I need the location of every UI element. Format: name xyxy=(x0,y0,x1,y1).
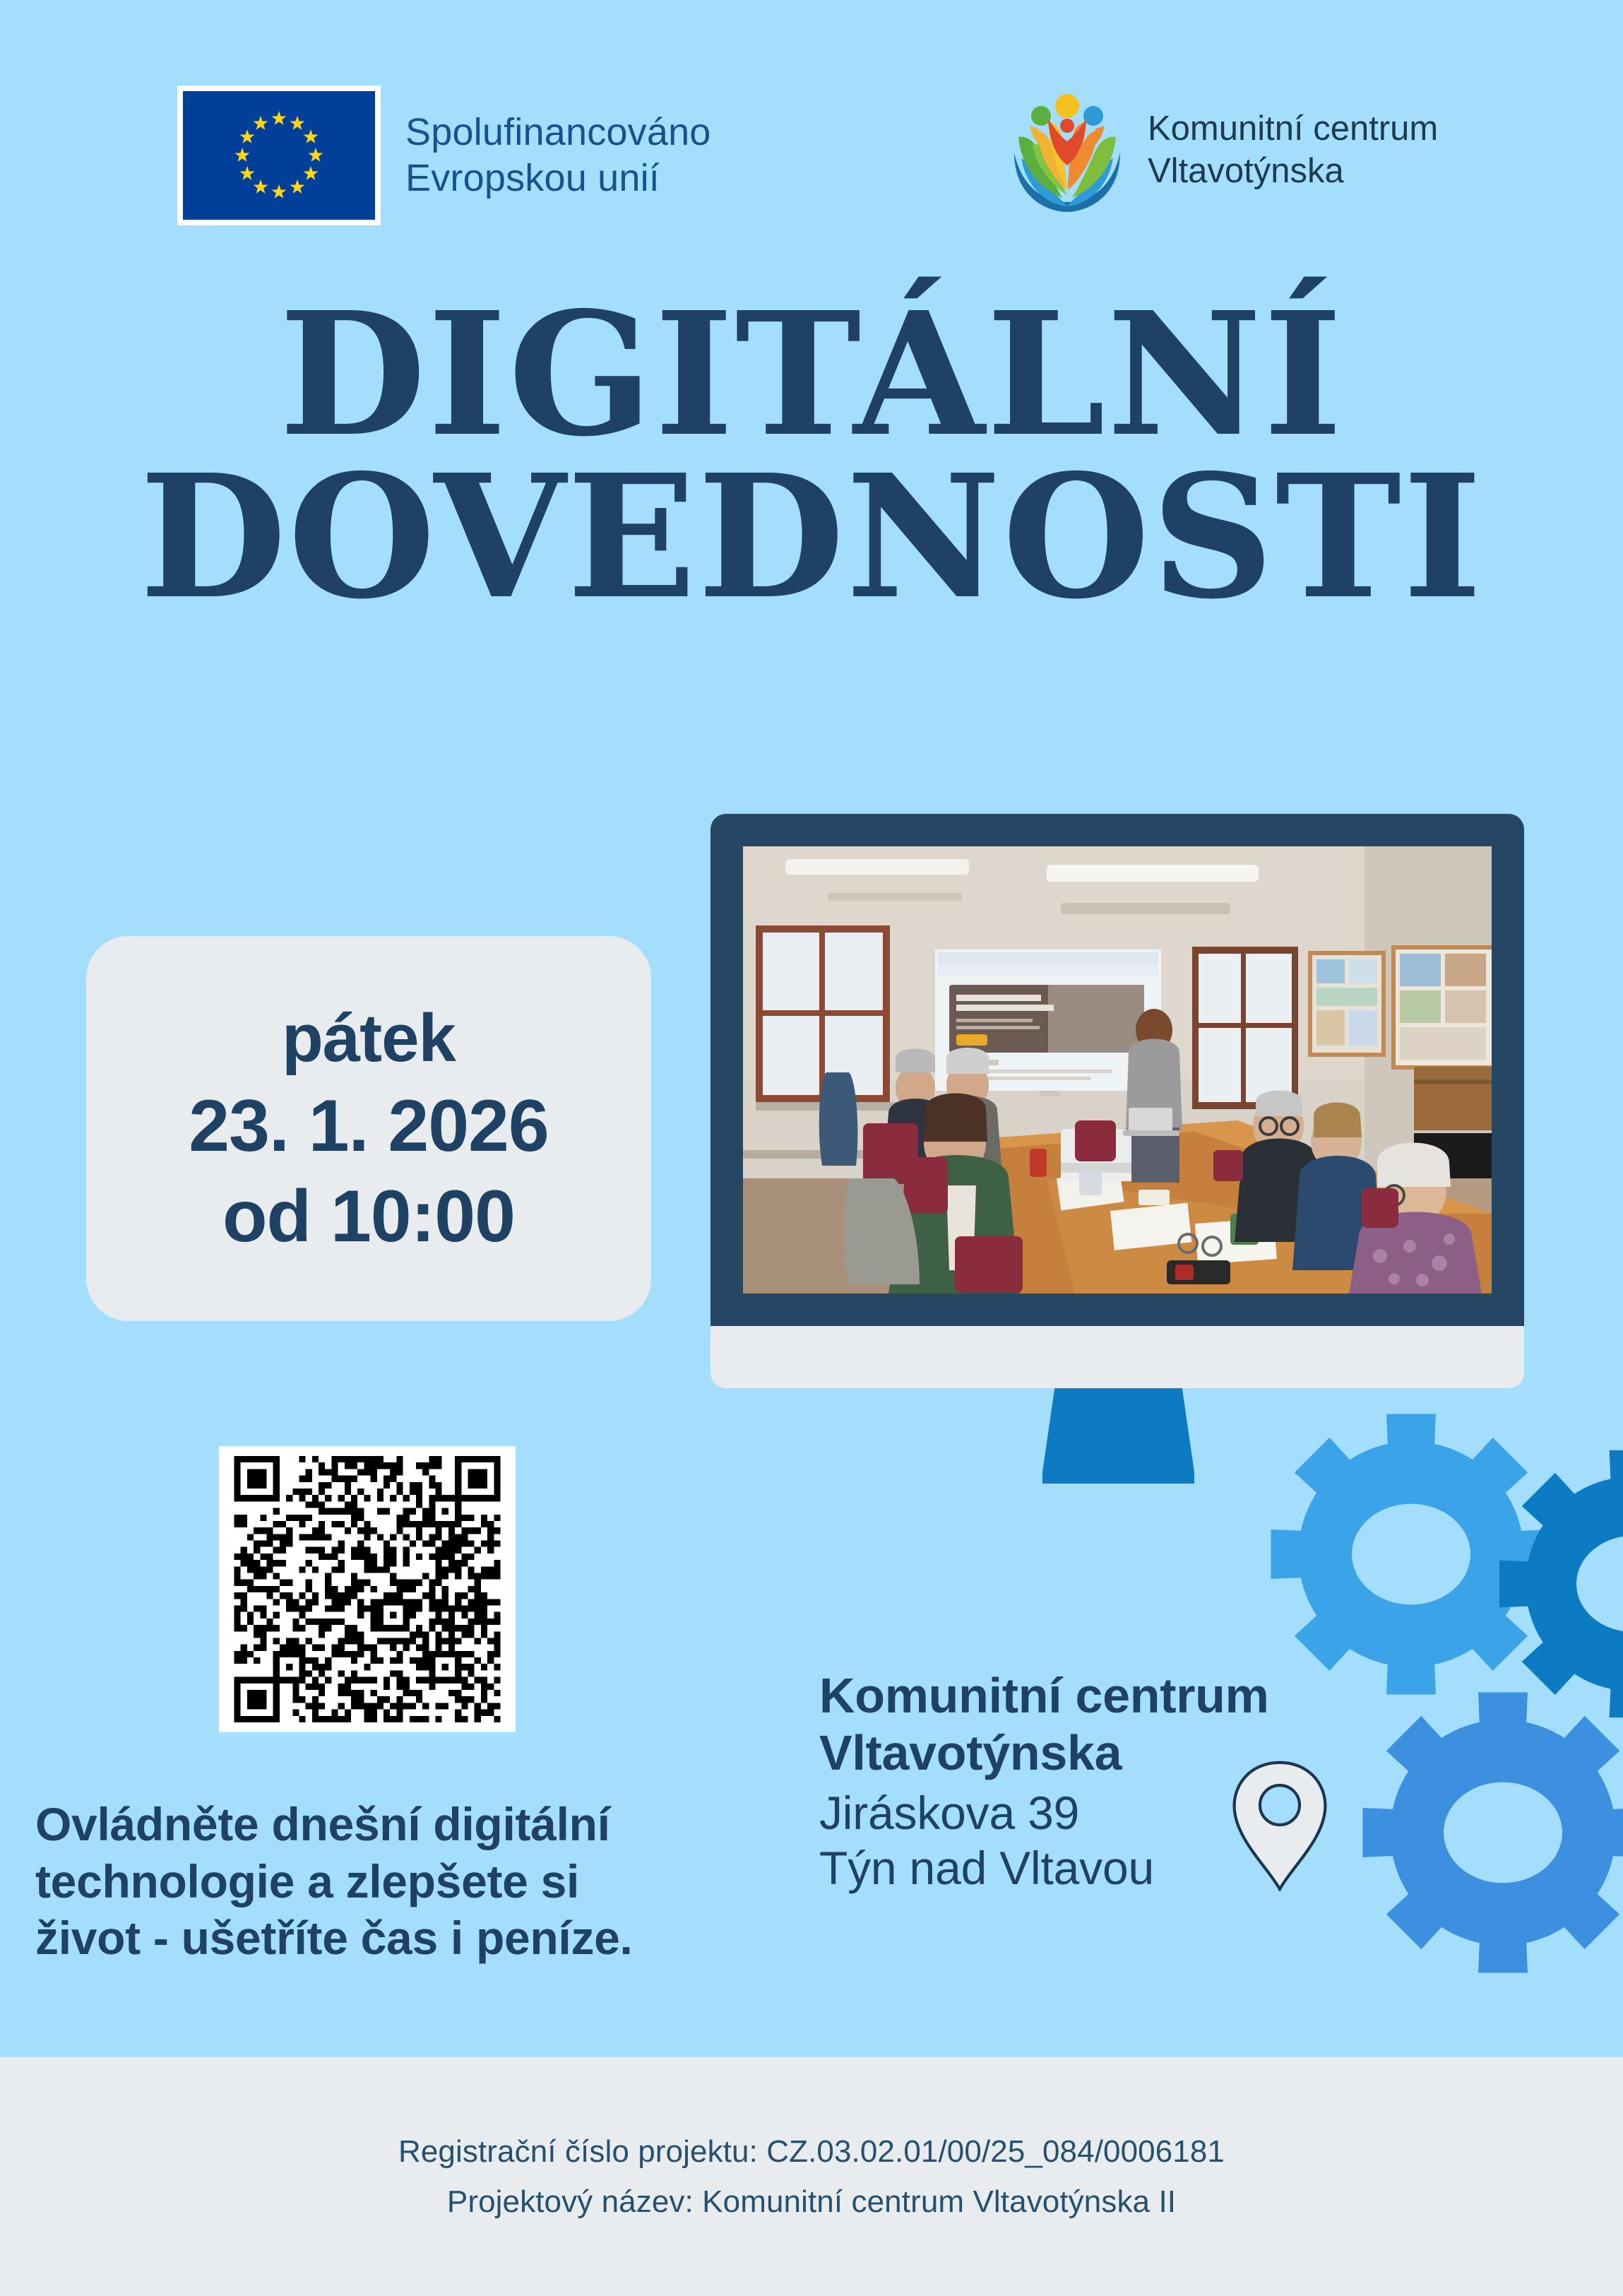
project-registration-number: Registrační číslo projektu: CZ.03.02.01/… xyxy=(398,2132,1225,2171)
monitor-chin xyxy=(711,1326,1524,1388)
monitor-bezel xyxy=(711,814,1524,1326)
logo-bar: Spolufinancováno Evropskou unií xyxy=(0,78,1623,240)
community-center-flower-icon xyxy=(1006,85,1129,215)
slogan-text: Ovládněte dnešní digitální technologie a… xyxy=(35,1796,777,1967)
eu-stars-icon xyxy=(183,91,375,220)
qr-code-matrix xyxy=(229,1456,506,1722)
map-pin-icon xyxy=(1230,1761,1329,1891)
qr-code[interactable] xyxy=(219,1446,516,1732)
page-title: DIGITÁLNÍ DOVEDNOSTI xyxy=(0,293,1623,619)
community-center-logo-block: Komunitní centrum Vltavotýnska xyxy=(1006,85,1438,215)
event-time: od 10:00 xyxy=(222,1180,515,1253)
eu-flag-frame xyxy=(178,86,380,225)
monitor-screen xyxy=(743,846,1492,1294)
gear-dark-right-icon xyxy=(1492,1443,1623,1725)
monitor-stand xyxy=(1042,1388,1194,1484)
monitor-illustration xyxy=(711,814,1524,1372)
event-date-card: pátek 23. 1. 2026 od 10:00 xyxy=(86,936,651,1321)
venue-street-city: Jiráskova 39 Týn nad Vltavou xyxy=(819,1786,1469,1896)
event-weekday: pátek xyxy=(282,1005,456,1072)
workshop-photo xyxy=(743,846,1492,1294)
title-line-1: DIGITÁLNÍ xyxy=(0,293,1623,456)
event-date: 23. 1. 2026 xyxy=(189,1089,548,1163)
eu-funding-logo: Spolufinancováno Evropskou unií xyxy=(178,86,711,225)
project-footer: Registrační číslo projektu: CZ.03.02.01/… xyxy=(0,2057,1623,2296)
project-name: Projektový název: Komunitní centrum Vlta… xyxy=(447,2182,1176,2221)
title-line-2: DOVEDNOSTI xyxy=(0,456,1623,618)
eu-funding-label: Spolufinancováno Evropskou unií xyxy=(405,110,711,201)
venue-address: Komunitní centrum Vltavotýnska Jiráskova… xyxy=(819,1667,1469,1896)
community-center-label: Komunitní centrum Vltavotýnska xyxy=(1148,108,1438,193)
venue-name: Komunitní centrum Vltavotýnska xyxy=(819,1667,1469,1782)
eu-flag-icon xyxy=(183,91,375,220)
poster-canvas: Spolufinancováno Evropskou unií xyxy=(0,0,1623,2296)
